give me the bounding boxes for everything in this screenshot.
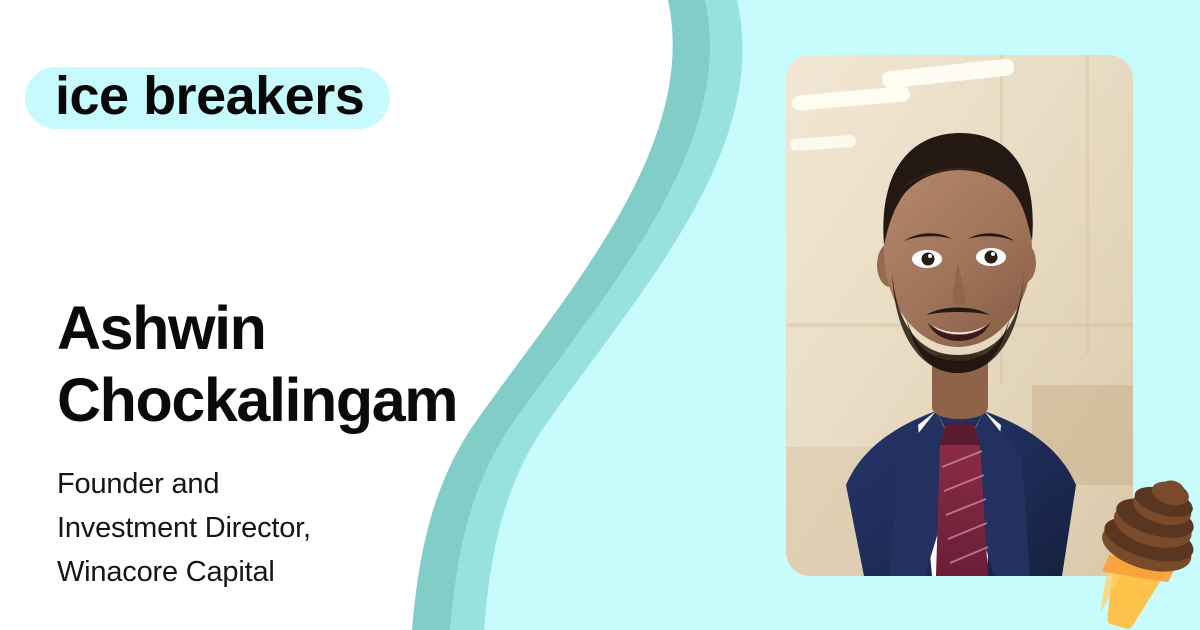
speaker-announcement-card: ice breakers Ashwin Chockalingam Founder… — [0, 0, 1200, 630]
speaker-portrait-photo — [786, 55, 1133, 576]
brand-logo-label: ice breakers — [55, 69, 364, 123]
speaker-title: Founder and Investment Director, Winacor… — [57, 462, 457, 594]
portrait-illustration — [786, 55, 1133, 576]
brand-logo-pill: ice breakers — [25, 67, 390, 129]
text-column: ice breakers Ashwin Chockalingam Founder… — [0, 0, 620, 630]
speaker-name: Ashwin Chockalingam — [57, 293, 527, 437]
